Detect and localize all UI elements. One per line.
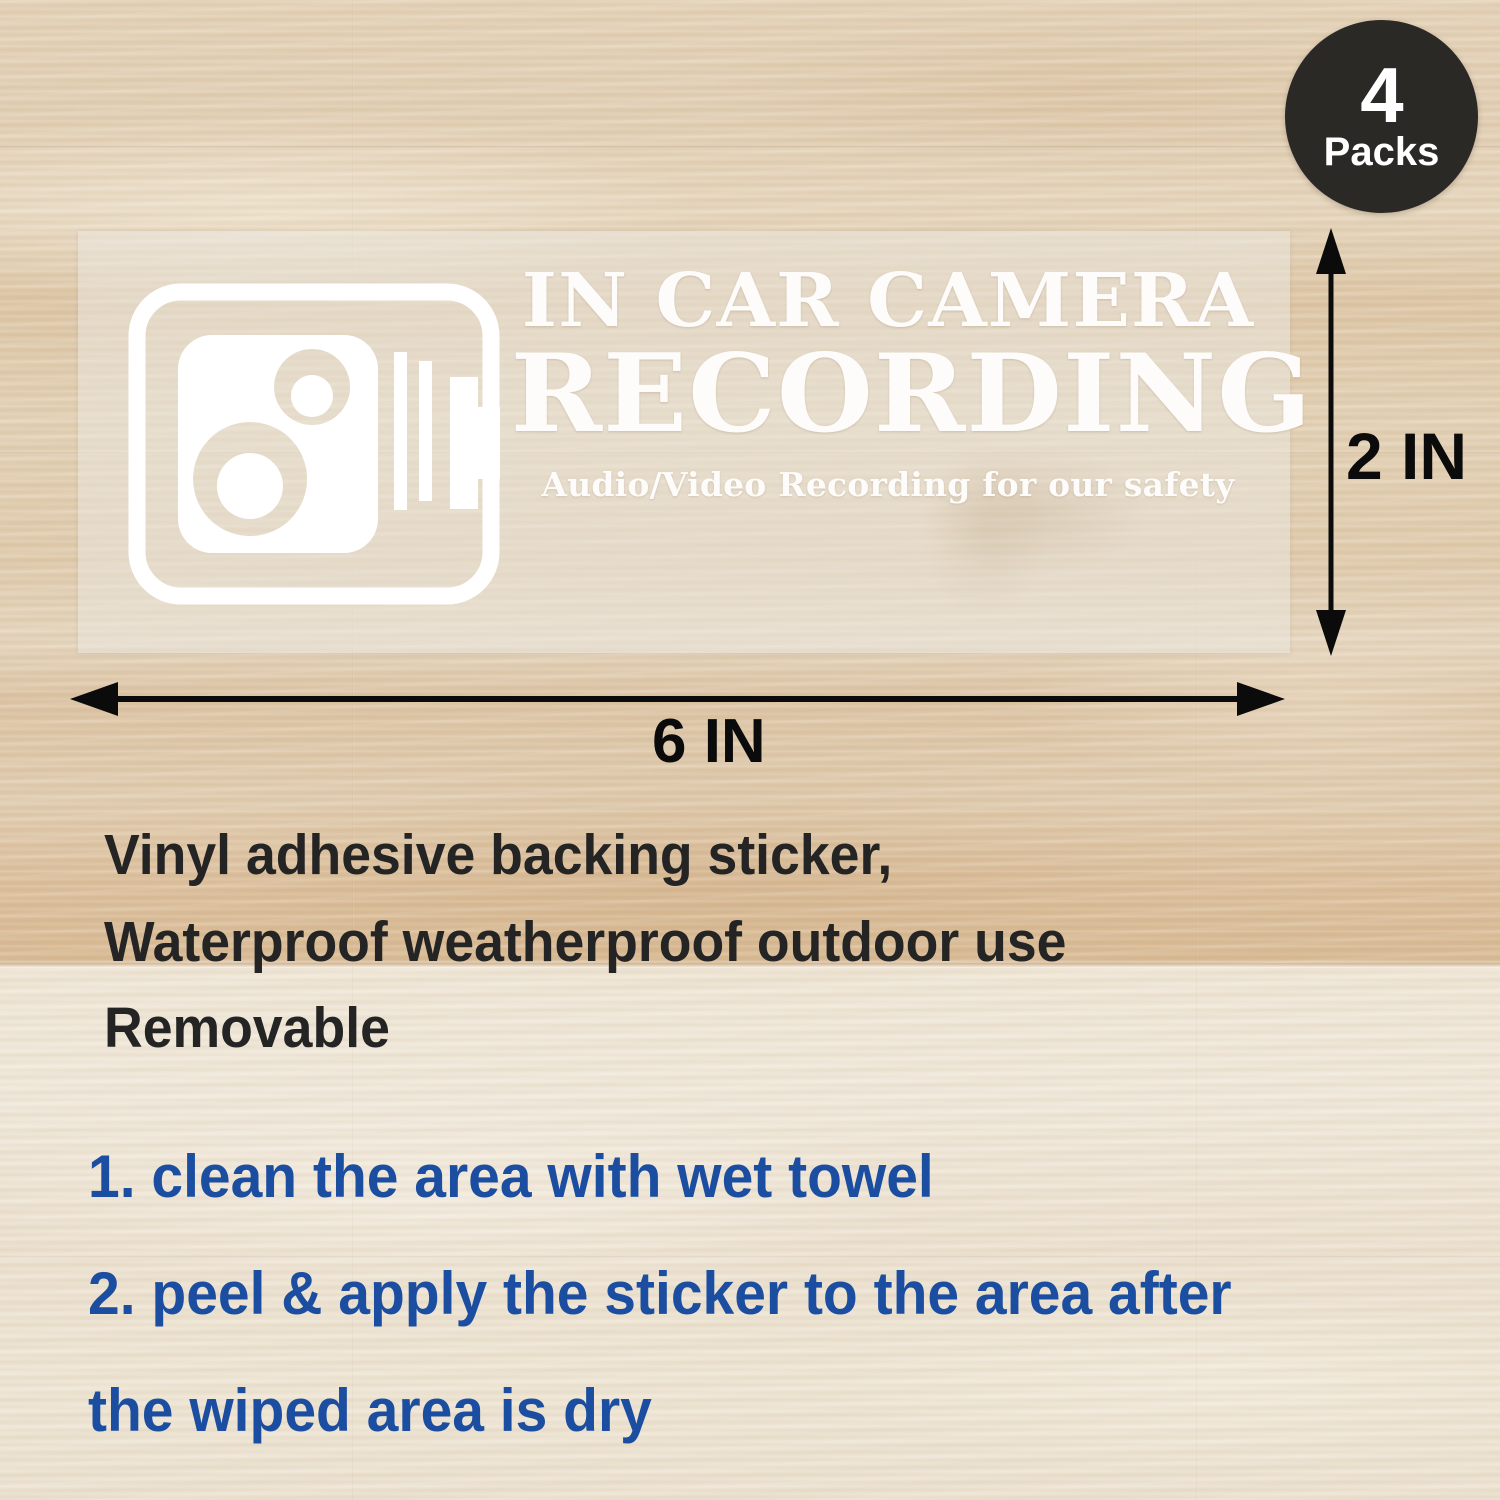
- width-dimension-label: 6 IN: [652, 706, 766, 777]
- instruction-step: 2. peel & apply the sticker to the area …: [88, 1235, 1418, 1352]
- sticker-headline-line1: IN CAR CAMERA: [511, 265, 1266, 338]
- description-line: Waterproof weatherproof outdoor use: [104, 899, 1354, 986]
- description-block: Vinyl adhesive backing sticker, Waterpro…: [104, 812, 1434, 1072]
- speed-camera-icon: [128, 283, 500, 605]
- description-line: Removable: [104, 985, 1354, 1072]
- sticker-preview: IN CAR CAMERA RECORDING Audio/Video Reco…: [78, 231, 1290, 653]
- height-dimension-label: 2 IN: [1346, 418, 1467, 494]
- description-line: Vinyl adhesive backing sticker,: [104, 812, 1354, 899]
- sticker-subtitle: Audio/Video Recording for our safety: [518, 465, 1258, 504]
- instruction-step-continuation: the wiped area is dry: [88, 1352, 1418, 1469]
- packs-badge: 4 Packs: [1285, 20, 1478, 213]
- packs-label: Packs: [1324, 132, 1440, 172]
- instructions-block: 1. clean the area with wet towel 2. peel…: [88, 1118, 1488, 1469]
- sticker-wording: IN CAR CAMERA RECORDING Audio/Video Reco…: [518, 265, 1258, 504]
- sticker-headline-line2: RECORDING: [511, 342, 1266, 448]
- packs-count: 4: [1360, 61, 1402, 130]
- product-image-canvas: IN CAR CAMERA RECORDING Audio/Video Reco…: [0, 0, 1500, 1500]
- instruction-step: 1. clean the area with wet towel: [88, 1118, 1418, 1235]
